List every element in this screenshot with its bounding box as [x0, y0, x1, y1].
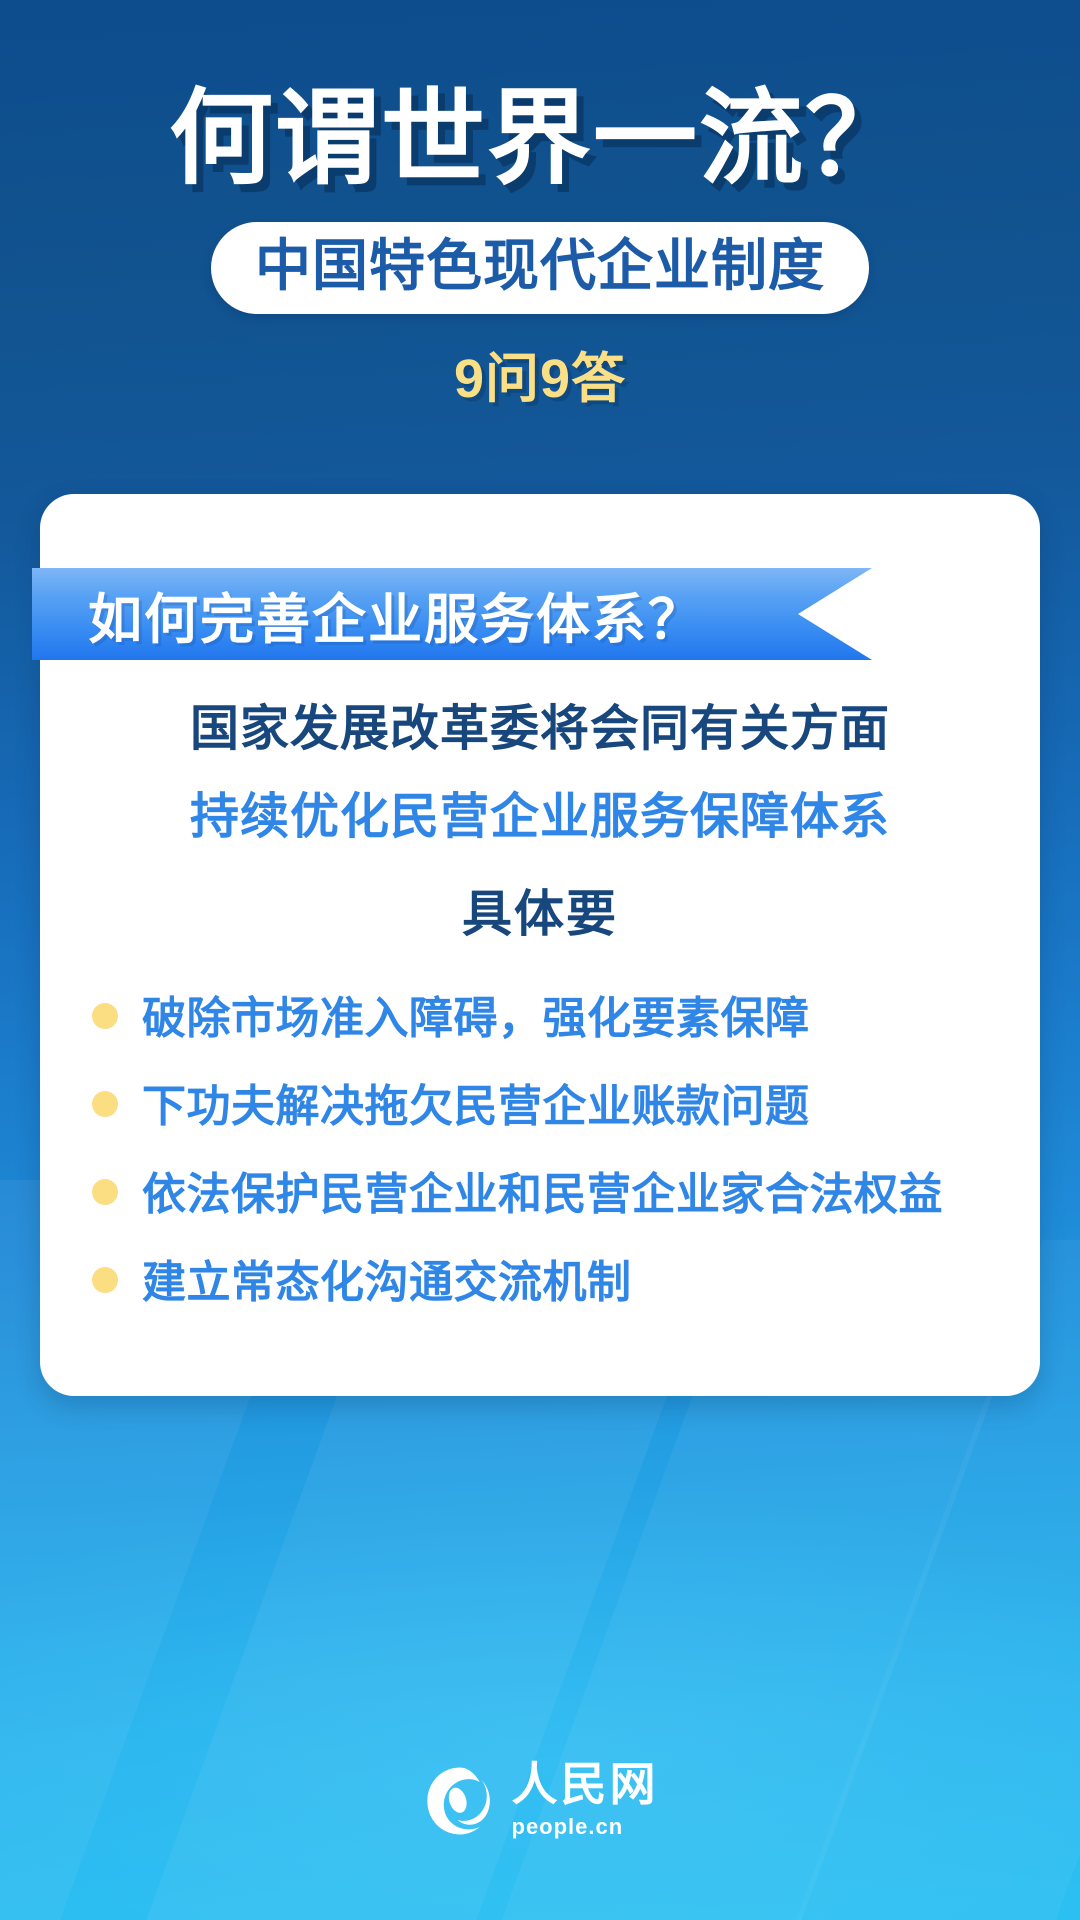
footer-brand: 人民网 people.cn	[0, 1762, 1080, 1840]
card-body-lines: 国家发展改革委将会同有关方面 持续优化民营企业服务保障体系	[40, 698, 1040, 849]
list-item-label: 建立常态化沟通交流机制	[142, 1246, 632, 1310]
poster-root: 何谓世界一流？ 中国特色现代企业制度 9问9答 如何完善企业服务体系？ 国家发展…	[0, 0, 1080, 1920]
page-title: 何谓世界一流？	[0, 84, 1080, 194]
content-card: 如何完善企业服务体系？ 国家发展改革委将会同有关方面 持续优化民营企业服务保障体…	[40, 494, 1040, 1396]
poster-header: 何谓世界一流？ 中国特色现代企业制度 9问9答	[0, 0, 1080, 413]
body-line-secondary: 持续优化民营企业服务保障体系	[40, 786, 1040, 850]
list-item: 破除市场准入障碍，强化要素保障	[92, 970, 1010, 1058]
brand-name-en: people.cn	[512, 1814, 624, 1840]
people-cn-swirl-icon	[422, 1763, 498, 1839]
background-glow	[0, 1450, 1080, 1920]
list-item-label: 依法保护民营企业和民营企业家合法权益	[142, 1158, 943, 1222]
bullet-dot-icon	[92, 1003, 118, 1029]
question-ribbon: 如何完善企业服务体系？	[32, 568, 872, 660]
brand-name-cn: 人民网	[512, 1762, 659, 1808]
card-subheading: 具体要	[40, 874, 1040, 946]
subtitle-pill: 中国特色现代企业制度	[211, 222, 869, 314]
brand-wordmark: 人民网 people.cn	[512, 1762, 659, 1840]
list-item-label: 破除市场准入障碍，强化要素保障	[142, 982, 810, 1046]
list-item: 下功夫解决拖欠民营企业账款问题	[92, 1058, 1010, 1146]
qa-count-label: 9问9答	[0, 334, 1080, 413]
bullet-dot-icon	[92, 1179, 118, 1205]
bullet-dot-icon	[92, 1267, 118, 1293]
list-item: 建立常态化沟通交流机制	[92, 1234, 1010, 1322]
list-item: 依法保护民营企业和民营企业家合法权益	[92, 1146, 1010, 1234]
bullet-dot-icon	[92, 1091, 118, 1117]
body-line-primary: 国家发展改革委将会同有关方面	[40, 698, 1040, 762]
bullet-list: 破除市场准入障碍，强化要素保障 下功夫解决拖欠民营企业账款问题 依法保护民营企业…	[92, 970, 1010, 1322]
ribbon-title: 如何完善企业服务体系？	[88, 568, 704, 660]
subtitle-pill-label: 中国特色现代企业制度	[255, 235, 825, 297]
list-item-label: 下功夫解决拖欠民营企业账款问题	[142, 1070, 810, 1134]
